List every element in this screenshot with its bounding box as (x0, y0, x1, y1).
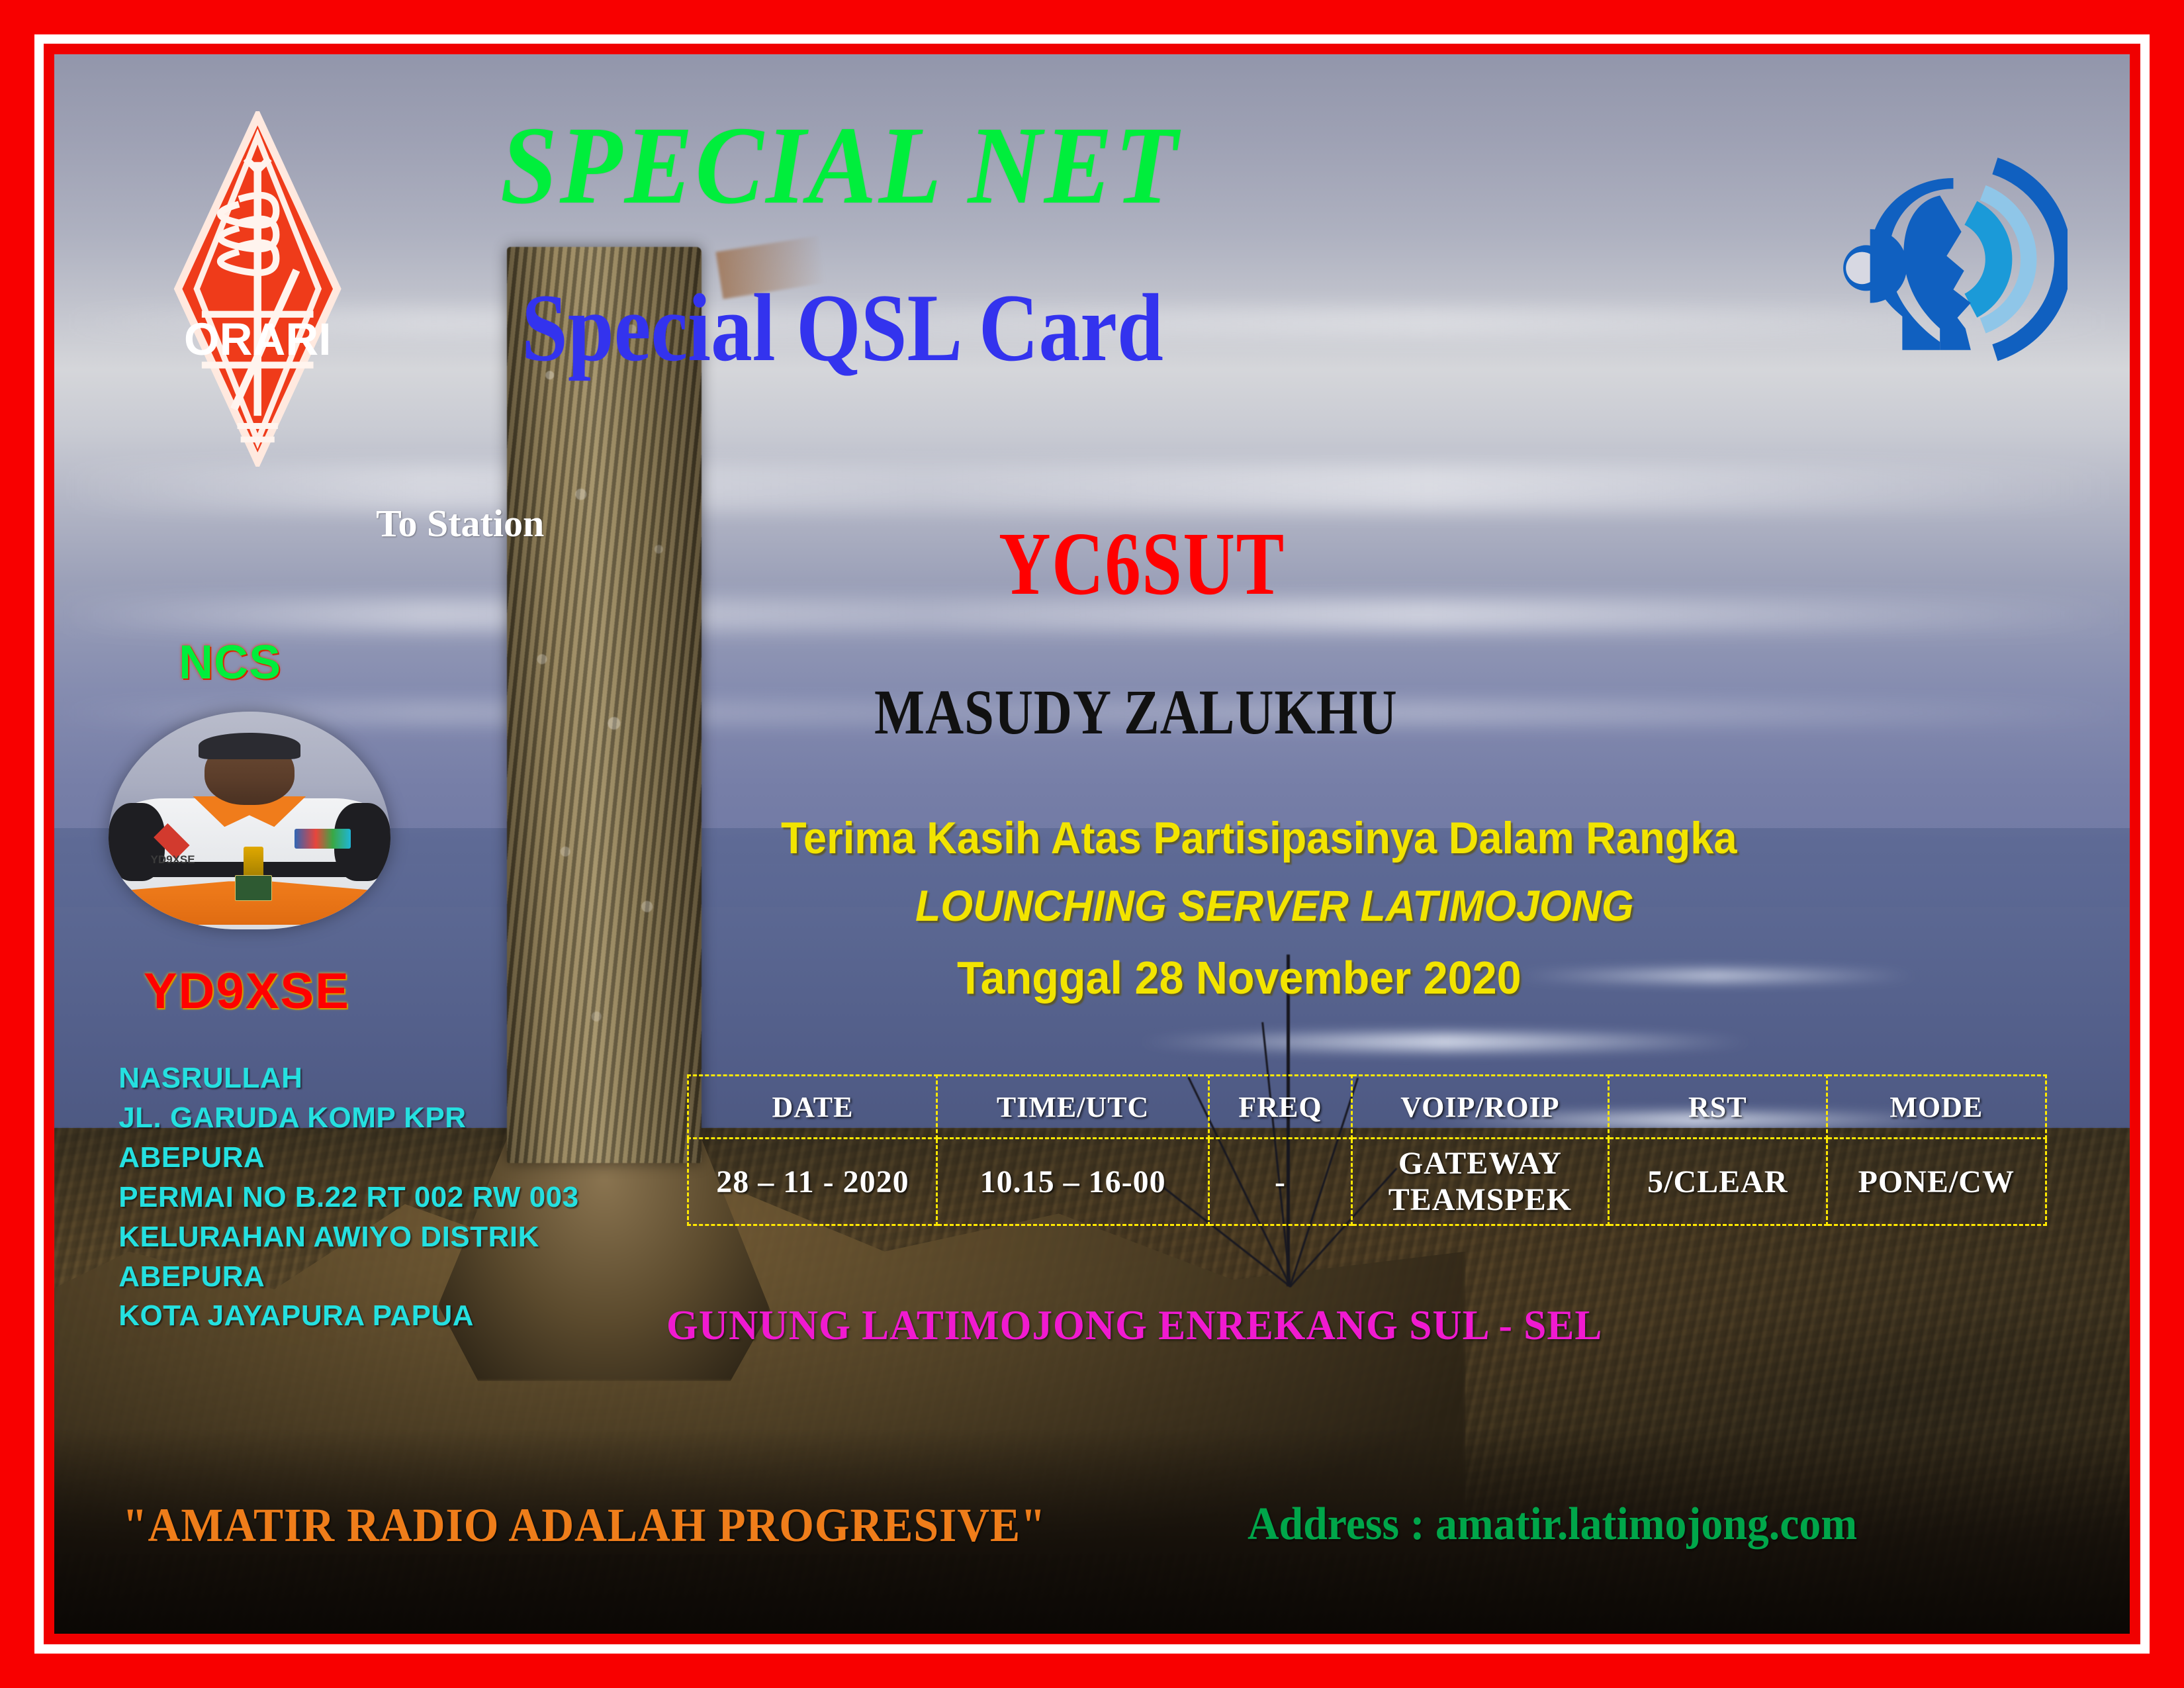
location-line: GUNUNG LATIMOJONG ENREKANG SUL - SEL (666, 1301, 1602, 1350)
website-address: Address : amatir.latimojong.com (1248, 1498, 1857, 1551)
cloud-band (54, 465, 2130, 511)
address-line: JL. GARUDA KOMP KPR (118, 1098, 578, 1138)
cell-mode: PONE/CW (1827, 1139, 2046, 1225)
address-line: KOTA JAYAPURA PAPUA (118, 1296, 578, 1336)
thanks-line-1: Terima Kasih Atas Partisipasinya Dalam R… (781, 812, 1737, 864)
address-line: ABEPURA (118, 1138, 578, 1178)
event-title-line: LOUNCHING SERVER LATIMOJONG (915, 880, 1634, 931)
avatar-id-card (235, 875, 271, 902)
ncs-address-block: NASRULLAH JL. GARUDA KOMP KPR ABEPURA PE… (118, 1058, 578, 1336)
address-line: NASRULLAH (118, 1058, 578, 1098)
page-subtitle-qsl-card: Special QSL Card (522, 272, 1163, 383)
cell-date: 28 – 11 - 2020 (688, 1139, 937, 1225)
avatar-patch (295, 829, 351, 849)
orari-logo-text: ORARI (184, 314, 331, 365)
card-inner-red-border: ORARI SPECIAL NET Special QSL Card (44, 44, 2140, 1644)
card-photo-background: ORARI SPECIAL NET Special QSL Card (54, 54, 2130, 1634)
ncs-label: NCS (179, 635, 281, 690)
orari-diamond-logo: ORARI (148, 111, 367, 467)
event-date-line: Tanggal 28 November 2020 (957, 951, 1522, 1004)
table-header-voip-roip: VOIP/ROIP (1352, 1076, 1608, 1139)
operator-name: MASUDY ZALUKHU (874, 675, 1398, 749)
table-header-date: DATE (688, 1076, 937, 1139)
cell-voip-roip: GATEWAY TEAMSPEK (1352, 1139, 1608, 1225)
address-line: ABEPURA (118, 1257, 578, 1297)
address-line: KELURAHAN AWIYO DISTRIK (118, 1217, 578, 1257)
table-header-time-utc: TIME/UTC (937, 1076, 1208, 1139)
recipient-callsign: YC6SUT (999, 512, 1285, 616)
cell-time-utc: 10.15 – 16-00 (937, 1139, 1208, 1225)
qsl-card: ORARI SPECIAL NET Special QSL Card (0, 0, 2184, 1688)
ncs-callsign: YD9XSE (144, 962, 350, 1020)
cell-rst: 5/CLEAR (1608, 1139, 1827, 1225)
table-row: 28 – 11 - 2020 10.15 – 16-00 - GATEWAY T… (688, 1139, 2046, 1225)
page-title-special-net: SPECIAL NET (500, 102, 1180, 230)
cell-freq: - (1208, 1139, 1351, 1225)
table-header-row: DATE TIME/UTC FREQ VOIP/ROIP RST MODE (688, 1076, 2046, 1139)
haze-streak (1507, 970, 1922, 981)
radio-operator-headphones-logo (1839, 117, 2068, 401)
avatar-uniform-callsign: YD9XSE (151, 853, 195, 867)
motto-text: "AMATIR RADIO ADALAH PROGRESIVE" (122, 1498, 1046, 1553)
address-line: PERMAI NO B.22 RT 002 RW 003 (118, 1178, 578, 1217)
avatar-hair (199, 733, 300, 759)
table-header-freq: FREQ (1208, 1076, 1351, 1139)
table-header-rst: RST (1608, 1076, 1827, 1139)
card-white-border: ORARI SPECIAL NET Special QSL Card (34, 34, 2150, 1654)
table-header-mode: MODE (1827, 1076, 2046, 1139)
stone-cairn-monument (507, 247, 702, 1163)
qso-details-table: DATE TIME/UTC FREQ VOIP/ROIP RST MODE 28… (687, 1074, 2046, 1226)
to-station-label: To Station (376, 501, 544, 545)
